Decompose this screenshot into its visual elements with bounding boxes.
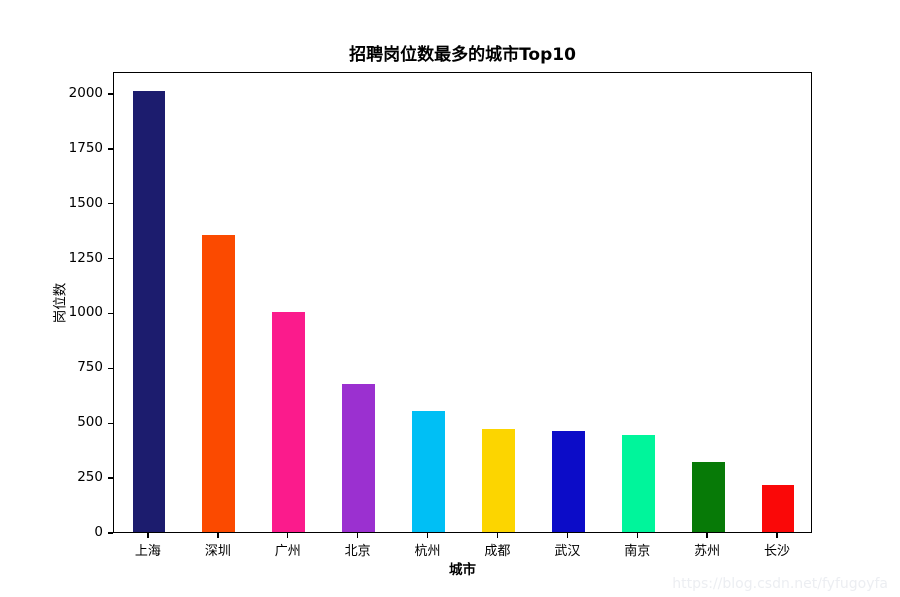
figure-canvas: 招聘岗位数最多的城市Top10 025050075010001250150017… — [0, 0, 900, 597]
x-tick-mark — [217, 533, 218, 538]
watermark: https://blog.csdn.net/fyfugoyfa — [672, 576, 888, 592]
y-tick-label: 750 — [77, 359, 103, 375]
x-tick-label-广州: 广州 — [275, 540, 301, 559]
y-tick-label: 2000 — [69, 85, 103, 101]
x-tick-label-长沙: 长沙 — [764, 540, 790, 559]
y-tick-label: 1500 — [69, 195, 103, 211]
x-tick-label-成都: 成都 — [484, 540, 510, 559]
bar-长沙 — [762, 485, 795, 532]
y-tick-label: 1000 — [69, 304, 103, 320]
x-tick-mark — [147, 533, 148, 538]
bar-上海 — [133, 91, 166, 532]
bar-杭州 — [412, 411, 445, 532]
bar-成都 — [482, 429, 515, 532]
y-tick-label: 250 — [77, 469, 103, 485]
x-tick-mark — [567, 533, 568, 538]
y-axis-label-text: 岗位数 — [48, 282, 68, 323]
x-tick-label-北京: 北京 — [345, 540, 371, 559]
bar-北京 — [342, 384, 375, 532]
bar-深圳 — [202, 235, 235, 532]
bars-layer — [114, 73, 811, 532]
chart-title: 招聘岗位数最多的城市Top10 — [113, 40, 812, 65]
bar-武汉 — [552, 431, 585, 532]
y-tick-label: 500 — [77, 414, 103, 430]
x-tick-mark — [357, 533, 358, 538]
x-tick-label-苏州: 苏州 — [694, 540, 720, 559]
x-tick-mark — [637, 533, 638, 538]
x-tick-label-武汉: 武汉 — [554, 540, 580, 559]
x-tick-mark — [776, 533, 777, 538]
y-tick-label: 1250 — [69, 250, 103, 266]
x-tick-mark — [287, 533, 288, 538]
bar-南京 — [622, 435, 655, 532]
x-tick-label-杭州: 杭州 — [415, 540, 441, 559]
bar-广州 — [272, 312, 305, 532]
plot-area — [113, 72, 812, 533]
x-axis-label: 城市 — [113, 558, 812, 578]
x-tick-label-南京: 南京 — [624, 540, 650, 559]
x-tick-label-上海: 上海 — [135, 540, 161, 559]
y-tick-label: 0 — [94, 524, 103, 540]
x-tick-mark — [706, 533, 707, 538]
y-axis-label: 岗位数 — [48, 72, 68, 533]
bar-苏州 — [692, 462, 725, 532]
x-tick-mark — [497, 533, 498, 538]
y-tick-label: 1750 — [69, 140, 103, 156]
x-tick-label-深圳: 深圳 — [205, 540, 231, 559]
x-tick-mark — [427, 533, 428, 538]
